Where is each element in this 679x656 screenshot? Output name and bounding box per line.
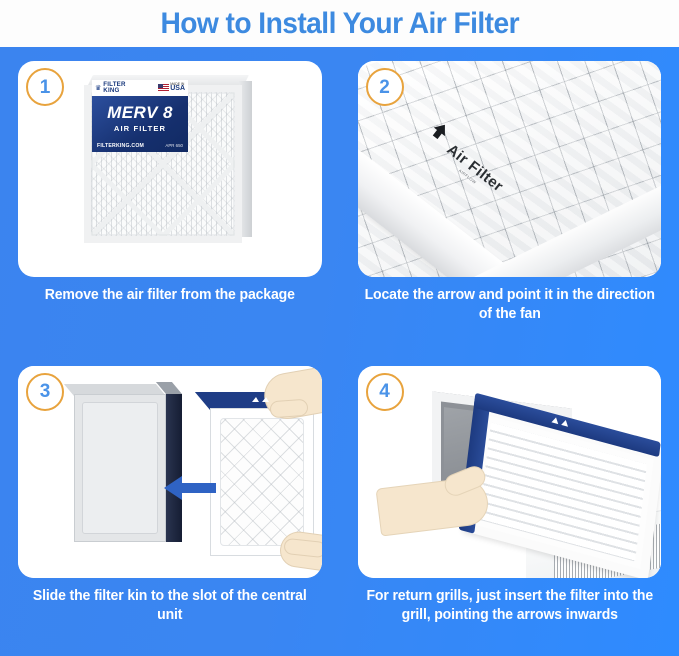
- thumb-upper: [269, 398, 308, 418]
- crown-icon: ♛: [95, 85, 101, 92]
- merv-rating: MERV 8: [107, 104, 173, 121]
- made-in-usa-badge: MADE IN USA: [158, 83, 185, 92]
- step-number-4: 4: [379, 382, 390, 401]
- label-header: ♛ FILTER KING MADE IN: [92, 80, 188, 96]
- step-3-illustration: [18, 366, 322, 578]
- step-caption-4: For return grills, just insert the filte…: [362, 587, 656, 625]
- step-4-card: 4: [358, 366, 662, 578]
- step-3-card: 3: [18, 366, 322, 578]
- unit-dark-slot: [166, 394, 182, 542]
- merv-subtitle: AIR FILTER: [114, 124, 166, 133]
- label-footer: FILTERKING.COM APR 650: [92, 143, 188, 149]
- brand-line-2: KING: [103, 88, 125, 94]
- step-2-cell: Air Filter AIRFLOW 2 Locate the arrow an…: [340, 47, 679, 352]
- step-badge-2: 2: [366, 68, 404, 106]
- page-title: How to Install Your Air Filter: [160, 9, 519, 39]
- step-2-illustration: Air Filter AIRFLOW: [358, 61, 662, 277]
- step-2-card: Air Filter AIRFLOW 2: [358, 61, 662, 277]
- step-caption-3: Slide the filter kin to the slot of the …: [23, 587, 317, 625]
- origin-big-text: USA: [170, 86, 185, 92]
- merv8-filter-product: ♛ FILTER KING MADE IN: [84, 75, 252, 249]
- unit-front-face: [74, 394, 166, 542]
- infographic-page: How to Install Your Air Filter: [0, 0, 679, 656]
- filter-diamond-media: [220, 418, 304, 546]
- apr-rating-text: APR 650: [165, 143, 183, 149]
- header-bar: How to Install Your Air Filter: [0, 0, 679, 47]
- product-label: ♛ FILTER KING MADE IN: [92, 80, 188, 152]
- central-unit-slot: [74, 384, 182, 544]
- website-text: FILTERKING.COM: [97, 143, 144, 149]
- step-1-illustration: ♛ FILTER KING MADE IN: [18, 61, 322, 277]
- step-number-3: 3: [40, 382, 51, 401]
- step-caption-1: Remove the air filter from the package: [23, 286, 317, 305]
- steps-grid: ♛ FILTER KING MADE IN: [0, 47, 679, 656]
- step-3-cell: 3 Slide the filter kin to the slot of th…: [0, 352, 340, 656]
- step-badge-4: 4: [366, 373, 404, 411]
- return-grill: [462, 403, 661, 577]
- filter-king-logo: ♛ FILTER KING: [95, 82, 126, 94]
- unit-slot-recess: [82, 402, 158, 534]
- step-1-cell: ♛ FILTER KING MADE IN: [0, 47, 340, 352]
- step-caption-2: Locate the arrow and point it in the dir…: [362, 286, 656, 324]
- insert-direction-arrow-icon: [164, 474, 216, 502]
- step-4-cell: 4 For return grills, just insert the fil…: [340, 352, 679, 656]
- step-badge-1: 1: [26, 68, 64, 106]
- step-number-1: 1: [40, 78, 51, 97]
- step-badge-3: 3: [26, 373, 64, 411]
- filter-arrow-marks-icon: [250, 396, 272, 403]
- usa-flag-icon: [158, 84, 169, 91]
- step-1-card: ♛ FILTER KING MADE IN: [18, 61, 322, 277]
- step-number-2: 2: [379, 78, 390, 97]
